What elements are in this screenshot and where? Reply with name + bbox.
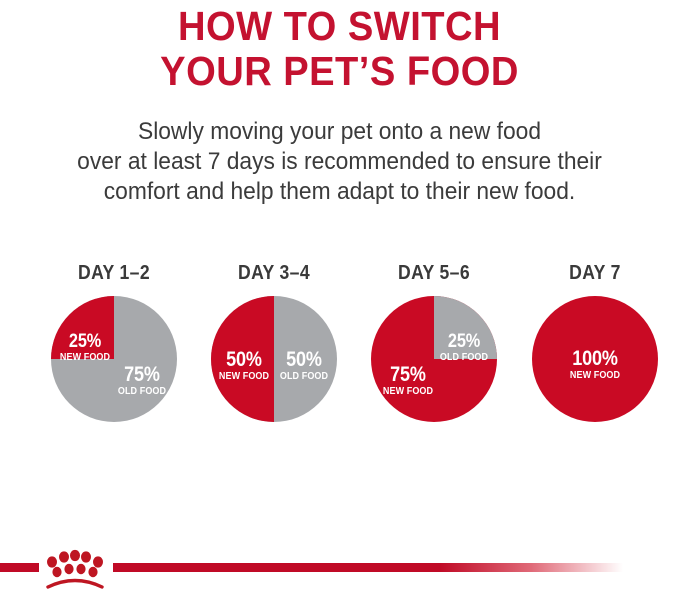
pie-chart-day-5-6: DAY 5–6 25% OLD FOOD 75% NEW FOOD xyxy=(354,262,514,442)
pie-slice-new-food xyxy=(211,296,274,422)
page-title: HOW TO SWITCH YOUR PET’S FOOD xyxy=(0,4,679,94)
pie-slice-new-food xyxy=(51,296,114,359)
pie-graphic: 50% NEW FOOD 50% OLD FOOD xyxy=(211,296,337,422)
pie-slice-new-food xyxy=(532,296,658,422)
pie-svg-day-1-2 xyxy=(51,296,177,422)
pie-svg-day-3-4 xyxy=(211,296,337,422)
intro-line-1: Slowly moving your pet onto a new food xyxy=(17,117,662,147)
pie-svg-day-7 xyxy=(532,296,658,422)
page-title-line-1: HOW TO SWITCH xyxy=(24,4,655,49)
pie-day-label: DAY 3–4 xyxy=(204,262,345,284)
royal-canin-crown-icon xyxy=(44,546,106,590)
pie-svg-day-5-6 xyxy=(371,296,497,422)
footer-rule-left xyxy=(0,563,39,572)
pie-chart-row: DAY 1–2 25% NEW FOOD 75% OLD FOOD DAY 3–… xyxy=(0,262,679,442)
intro-line-2: over at least 7 days is recommended to e… xyxy=(17,147,662,177)
pie-graphic: 25% OLD FOOD 75% NEW FOOD xyxy=(371,296,497,422)
pie-day-label: DAY 7 xyxy=(525,262,666,284)
pie-day-label: DAY 1–2 xyxy=(44,262,185,284)
pie-slice-old-food xyxy=(434,296,497,359)
intro-line-3: comfort and help them adapt to their new… xyxy=(17,177,662,207)
pie-chart-day-3-4: DAY 3–4 50% NEW FOOD 50% OLD FOOD xyxy=(194,262,354,442)
pie-chart-day-1-2: DAY 1–2 25% NEW FOOD 75% OLD FOOD xyxy=(34,262,194,442)
pie-chart-day-7: DAY 7 100% NEW FOOD xyxy=(515,262,675,442)
footer xyxy=(0,542,679,594)
intro-paragraph: Slowly moving your pet onto a new food o… xyxy=(0,117,679,207)
pie-graphic: 25% NEW FOOD 75% OLD FOOD xyxy=(51,296,177,422)
footer-rule-right xyxy=(113,563,623,572)
pie-graphic: 100% NEW FOOD xyxy=(532,296,658,422)
pie-day-label: DAY 5–6 xyxy=(364,262,505,284)
page-title-line-2: YOUR PET’S FOOD xyxy=(24,49,655,94)
